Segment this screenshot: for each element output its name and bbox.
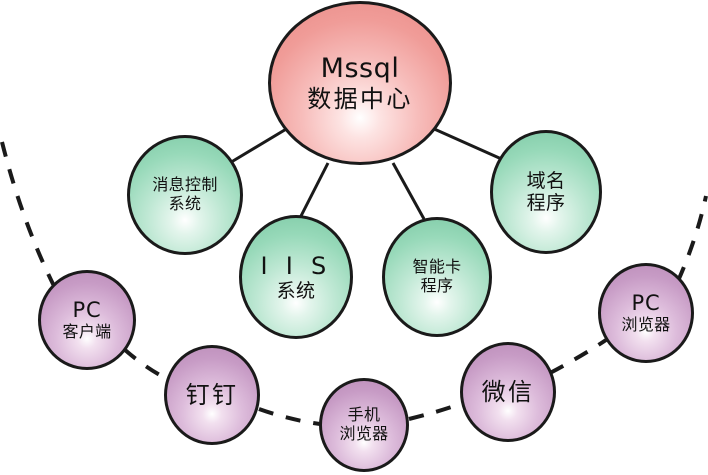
edge-wechat-to-pc-browser: [550, 340, 606, 373]
node-label-line2: 系统: [277, 280, 316, 302]
edge-center-to-message-control: [228, 128, 288, 164]
node-label-line2: 程序: [527, 192, 566, 214]
node-iis-system[interactable]: I I S 系统: [239, 215, 353, 339]
node-label-line1: Mssql: [321, 53, 400, 85]
node-label-line1: PC: [631, 291, 660, 316]
node-label-line1: 域名: [527, 170, 566, 192]
edge-arc-right-tail: [678, 196, 706, 281]
node-label-line2: 浏览器: [340, 425, 389, 444]
node-mssql-data-center[interactable]: Mssql 数据中心: [268, 1, 452, 165]
node-label-line1: I I S: [260, 252, 331, 280]
node-wechat[interactable]: 微信: [460, 342, 556, 442]
node-mobile-browser[interactable]: 手机 浏览器: [319, 378, 409, 472]
node-label-line1: 钉钉: [186, 381, 239, 409]
edge-center-to-smart-card: [393, 163, 424, 219]
edge-mobile-browser-to-wechat: [409, 403, 463, 419]
edge-center-to-iis: [301, 163, 328, 216]
node-label-line1: PC: [72, 298, 101, 323]
edge-dingtalk-to-mobile-browser: [259, 409, 320, 424]
node-label-line1: 智能卡: [413, 258, 462, 277]
node-label-line2: 浏览器: [622, 316, 671, 335]
node-label-line2: 程序: [421, 277, 454, 296]
node-smart-card-program[interactable]: 智能卡 程序: [382, 217, 492, 337]
node-dingtalk[interactable]: 钉钉: [164, 345, 260, 445]
node-label-line1: 消息控制: [152, 176, 217, 195]
node-pc-browser[interactable]: PC 浏览器: [598, 263, 694, 363]
edge-center-to-domain-name: [432, 128, 506, 161]
node-label-line2: 客户端: [63, 323, 112, 342]
node-label-line1: 微信: [482, 378, 535, 406]
edge-arc-left-tail: [2, 142, 55, 288]
node-pc-client[interactable]: PC 客户端: [38, 270, 136, 370]
node-label-line2: 数据中心: [307, 85, 413, 113]
node-message-control-system[interactable]: 消息控制 系统: [127, 135, 243, 255]
node-label-line2: 系统: [169, 195, 202, 214]
node-domain-name-program[interactable]: 域名 程序: [490, 130, 602, 254]
architecture-diagram: Mssql 数据中心 消息控制 系统 I I S 系统 智能卡 程序 域名 程序…: [0, 0, 708, 475]
node-label-line1: 手机: [348, 406, 381, 425]
